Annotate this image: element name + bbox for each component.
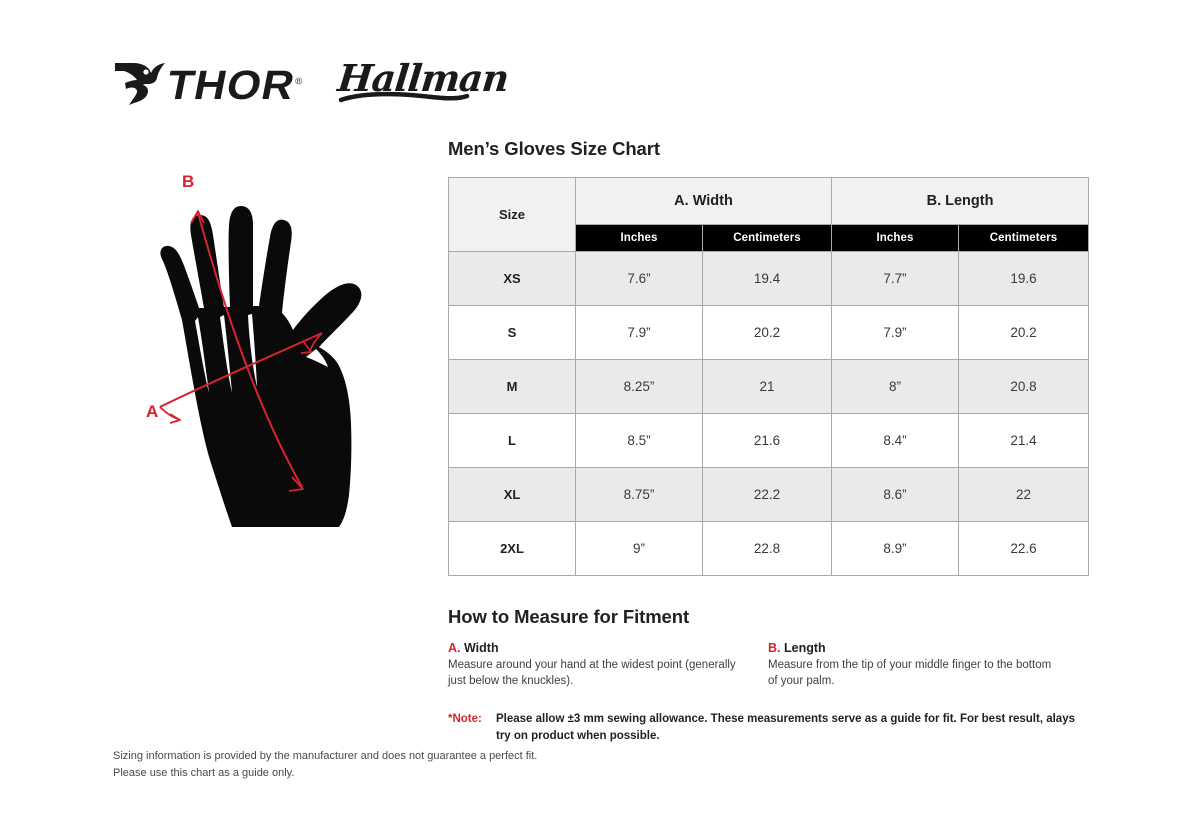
measure-name-width: Width <box>464 641 499 655</box>
column-group-header-length: B. Length <box>832 178 1089 225</box>
table-row: XL8.75”22.28.6”22 <box>449 468 1089 522</box>
size-chart-table: Size A. Width B. Length Inches Centimete… <box>448 177 1089 576</box>
measure-letter-a: A. <box>448 641 461 655</box>
column-header-width-inches: Inches <box>576 225 703 252</box>
cell-width-inches: 8.5” <box>576 414 703 468</box>
cell-size: 2XL <box>449 522 576 576</box>
thor-wordmark: THOR® <box>163 65 305 106</box>
cell-size: XL <box>449 468 576 522</box>
cell-size: M <box>449 360 576 414</box>
cell-width-centimeters: 21 <box>703 360 832 414</box>
measure-letter-b: B. <box>768 641 781 655</box>
measure-item-width-heading: A. Width <box>448 641 743 655</box>
column-header-length-inches: Inches <box>832 225 959 252</box>
cell-width-centimeters: 21.6 <box>703 414 832 468</box>
column-header-size: Size <box>449 178 576 252</box>
thor-helmet-icon <box>113 59 169 109</box>
table-row: M8.25”218”20.8 <box>449 360 1089 414</box>
cell-length-centimeters: 19.6 <box>959 252 1089 306</box>
column-header-length-centimeters: Centimeters <box>959 225 1089 252</box>
cell-width-inches: 7.6” <box>576 252 703 306</box>
column-header-width-centimeters: Centimeters <box>703 225 832 252</box>
diagram-label-a: A <box>146 402 158 421</box>
cell-width-centimeters: 22.2 <box>703 468 832 522</box>
cell-size: XS <box>449 252 576 306</box>
cell-width-centimeters: 19.4 <box>703 252 832 306</box>
footer-line-2: Please use this chart as a guide only. <box>113 765 537 782</box>
hand-measurement-diagram: A B <box>120 165 430 535</box>
cell-length-inches: 7.7” <box>832 252 959 306</box>
cell-width-inches: 8.25” <box>576 360 703 414</box>
measure-description-width: Measure around your hand at the widest p… <box>448 658 743 689</box>
table-row: L8.5”21.68.4”21.4 <box>449 414 1089 468</box>
size-chart-panel: Men’s Gloves Size Chart Size A. Width B.… <box>448 138 1088 744</box>
measure-item-length: B. Length Measure from the tip of your m… <box>768 641 1088 689</box>
table-header-row-groups: Size A. Width B. Length <box>449 178 1089 225</box>
table-row: S7.9”20.27.9”20.2 <box>449 306 1089 360</box>
how-to-measure-title: How to Measure for Fitment <box>448 606 1088 628</box>
brand-logo-bar: THOR® Hallman <box>113 55 508 113</box>
cell-width-inches: 7.9” <box>576 306 703 360</box>
cell-width-centimeters: 20.2 <box>703 306 832 360</box>
measure-description-length: Measure from the tip of your middle fing… <box>768 658 1063 689</box>
cell-length-centimeters: 22 <box>959 468 1089 522</box>
cell-length-inches: 8.4” <box>832 414 959 468</box>
note-text: Please allow ±3 mm sewing allowance. The… <box>496 711 1088 744</box>
cell-length-centimeters: 21.4 <box>959 414 1089 468</box>
cell-length-inches: 8” <box>832 360 959 414</box>
footer-disclaimer: Sizing information is provided by the ma… <box>113 748 537 782</box>
note-row: *Note: Please allow ±3 mm sewing allowan… <box>448 711 1088 744</box>
cell-width-inches: 9” <box>576 522 703 576</box>
note-label: *Note: <box>448 711 496 728</box>
hallman-wordmark: Hallman <box>336 60 510 97</box>
column-group-header-width: A. Width <box>576 178 832 225</box>
diagram-label-b: B <box>182 172 194 191</box>
cell-size: S <box>449 306 576 360</box>
hand-silhouette-icon <box>160 206 361 527</box>
measure-name-length: Length <box>784 641 826 655</box>
cell-length-centimeters: 20.2 <box>959 306 1089 360</box>
cell-length-inches: 8.6” <box>832 468 959 522</box>
cell-width-centimeters: 22.8 <box>703 522 832 576</box>
thor-logo: THOR® <box>113 58 298 110</box>
table-row: XS7.6”19.47.7”19.6 <box>449 252 1089 306</box>
page-title: Men’s Gloves Size Chart <box>448 138 1088 160</box>
cell-length-centimeters: 22.6 <box>959 522 1089 576</box>
footer-line-1: Sizing information is provided by the ma… <box>113 748 537 765</box>
cell-length-inches: 8.9” <box>832 522 959 576</box>
registered-trademark-icon: ® <box>295 77 302 86</box>
table-row: 2XL9”22.88.9”22.6 <box>449 522 1089 576</box>
cell-length-inches: 7.9” <box>832 306 959 360</box>
cell-size: L <box>449 414 576 468</box>
hallman-logo: Hallman <box>338 60 508 105</box>
size-chart-table-body: XS7.6”19.47.7”19.6S7.9”20.27.9”20.2M8.25… <box>449 252 1089 576</box>
how-to-measure-section: How to Measure for Fitment A. Width Meas… <box>448 606 1088 689</box>
cell-length-centimeters: 20.8 <box>959 360 1089 414</box>
measure-item-length-heading: B. Length <box>768 641 1063 655</box>
thor-wordmark-text: THOR <box>163 62 299 108</box>
measure-item-width: A. Width Measure around your hand at the… <box>448 641 768 689</box>
cell-width-inches: 8.75” <box>576 468 703 522</box>
